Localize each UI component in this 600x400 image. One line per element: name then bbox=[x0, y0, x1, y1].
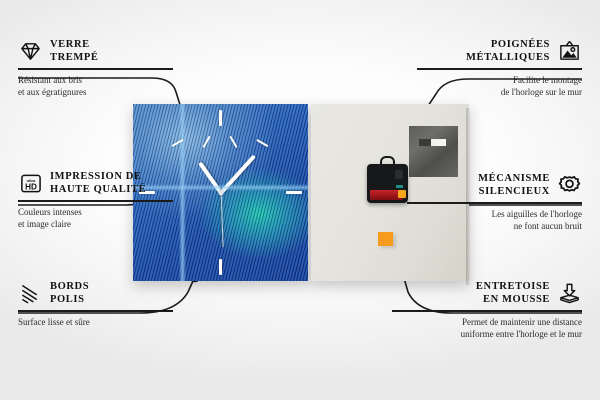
feature-header: ENTRETOISEEN MOUSSE bbox=[392, 280, 582, 306]
foam-spacer-press-icon bbox=[557, 282, 582, 305]
feature-description: Surface lisse et sûre bbox=[18, 316, 173, 328]
feature-poignees-metalliques: POIGNÉESMÉTALLIQUES Facilite le montaged… bbox=[417, 38, 582, 98]
divider bbox=[18, 310, 173, 312]
divider bbox=[18, 200, 173, 202]
feature-description: Permet de maintenir une distanceuniforme… bbox=[392, 316, 582, 340]
minute-hand bbox=[219, 154, 255, 194]
divider bbox=[417, 68, 582, 70]
feature-header: ultra HD IMPRESSION DEHAUTE QUALITÉ bbox=[18, 170, 173, 196]
tick-2 bbox=[172, 139, 184, 147]
feature-description: Couleurs intenseset image claire bbox=[18, 206, 173, 230]
infographic-canvas: VERRETREMPÉ Résistant aux briset aux égr… bbox=[0, 0, 600, 400]
feature-title: POIGNÉESMÉTALLIQUES bbox=[466, 38, 550, 64]
battery bbox=[370, 190, 403, 200]
battery-terminal bbox=[398, 190, 406, 198]
feature-description: Les aiguilles de l'horlogene font aucun … bbox=[407, 208, 582, 232]
svg-text:HD: HD bbox=[25, 182, 37, 191]
polished-edges-icon bbox=[18, 282, 43, 305]
feature-header: POIGNÉESMÉTALLIQUES bbox=[417, 38, 582, 64]
divider bbox=[392, 310, 582, 312]
feature-bords-polis: BORDSPOLIS Surface lisse et sûre bbox=[18, 280, 173, 328]
feature-description: Facilite le montagede l'horloge sur le m… bbox=[417, 74, 582, 98]
tick-10 bbox=[257, 139, 269, 147]
hand-center-pin bbox=[218, 190, 223, 195]
feature-impression-haute-qualite: ultra HD IMPRESSION DEHAUTE QUALITÉ Coul… bbox=[18, 170, 173, 230]
movement-hanger-hook bbox=[380, 156, 395, 167]
tick-1 bbox=[203, 136, 211, 148]
tick-11 bbox=[230, 136, 238, 148]
feature-title: MÉCANISMESILENCIEUX bbox=[478, 172, 550, 198]
metal-hanging-bracket bbox=[409, 126, 458, 177]
feature-mecanisme-silencieux: MÉCANISMESILENCIEUX Les aiguilles de l'h… bbox=[407, 172, 582, 232]
ultra-hd-icon: ultra HD bbox=[18, 172, 43, 195]
feature-description: Résistant aux briset aux égratignures bbox=[18, 74, 173, 98]
movement-label bbox=[396, 185, 403, 188]
second-hand bbox=[220, 192, 223, 246]
bracket-slot bbox=[419, 139, 446, 146]
diamond-icon bbox=[18, 40, 43, 63]
gear-icon bbox=[557, 174, 582, 197]
quartz-movement bbox=[367, 164, 408, 203]
feature-verre-trempe: VERRETREMPÉ Résistant aux briset aux égr… bbox=[18, 38, 173, 98]
feature-title: IMPRESSION DEHAUTE QUALITÉ bbox=[50, 170, 146, 196]
feature-header: BORDSPOLIS bbox=[18, 280, 173, 306]
divider bbox=[407, 202, 582, 204]
framed-picture-hanging-icon bbox=[557, 40, 582, 63]
orange-foam-spacer bbox=[378, 232, 393, 246]
tick-12 bbox=[219, 110, 222, 126]
divider bbox=[18, 68, 173, 70]
feature-entretoise-en-mousse: ENTRETOISEEN MOUSSE Permet de maintenir … bbox=[392, 280, 582, 340]
feature-title: ENTRETOISEEN MOUSSE bbox=[476, 280, 550, 306]
feature-header: VERRETREMPÉ bbox=[18, 38, 173, 64]
movement-shaft bbox=[395, 170, 403, 179]
tick-3 bbox=[286, 191, 302, 194]
tick-6 bbox=[219, 259, 222, 275]
feature-title: BORDSPOLIS bbox=[50, 280, 89, 306]
hour-hand bbox=[198, 161, 222, 194]
feature-header: MÉCANISMESILENCIEUX bbox=[407, 172, 582, 198]
feature-title: VERRETREMPÉ bbox=[50, 38, 99, 64]
